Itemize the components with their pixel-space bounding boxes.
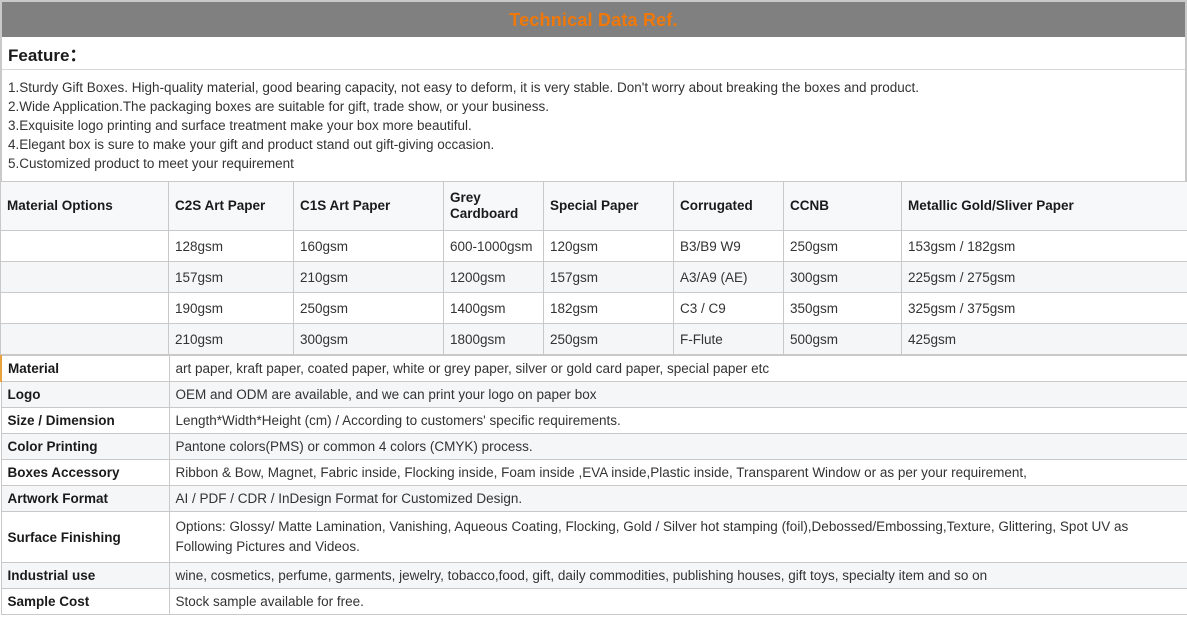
table-cell bbox=[1, 293, 169, 324]
table-row: 157gsm 210gsm 1200gsm 157gsm A3/A9 (AE) … bbox=[1, 262, 1187, 293]
table-cell: 120gsm bbox=[544, 231, 674, 262]
spec-value: Stock sample available for free. bbox=[169, 589, 1187, 615]
spec-label: Size / Dimension bbox=[1, 408, 169, 434]
table-cell: 350gsm bbox=[784, 293, 902, 324]
feature-heading-row: Feature： bbox=[2, 37, 1185, 70]
material-table-header-row: Material Options C2S Art Paper C1S Art P… bbox=[1, 182, 1187, 231]
spec-label: Logo bbox=[1, 382, 169, 408]
spec-label: Industrial use bbox=[1, 563, 169, 589]
feature-section: Feature： 1.Sturdy Gift Boxes. High-quali… bbox=[0, 37, 1187, 181]
table-cell: 1400gsm bbox=[444, 293, 544, 324]
spec-value: art paper, kraft paper, coated paper, wh… bbox=[169, 356, 1187, 382]
spec-value: Options: Glossy/ Matte Lamination, Vanis… bbox=[169, 512, 1187, 563]
spec-row-logo: Logo OEM and ODM are available, and we c… bbox=[1, 382, 1187, 408]
table-row: 128gsm 160gsm 600-1000gsm 120gsm B3/B9 W… bbox=[1, 231, 1187, 262]
page-title-bar: Technical Data Ref. bbox=[0, 0, 1187, 37]
spec-row-artwork-format: Artwork Format AI / PDF / CDR / InDesign… bbox=[1, 486, 1187, 512]
column-header-c1s-art-paper: C1S Art Paper bbox=[294, 182, 444, 231]
spec-row-material: Material art paper, kraft paper, coated … bbox=[1, 356, 1187, 382]
table-cell: 1800gsm bbox=[444, 324, 544, 355]
spec-label: Surface Finishing bbox=[1, 512, 169, 563]
column-header-material-options: Material Options bbox=[1, 182, 169, 231]
feature-line: 2.Wide Application.The packaging boxes a… bbox=[8, 97, 1179, 116]
column-header-ccnb: CCNB bbox=[784, 182, 902, 231]
column-header-c2s-art-paper: C2S Art Paper bbox=[169, 182, 294, 231]
feature-line: 5.Customized product to meet your requir… bbox=[8, 154, 1179, 173]
page-title: Technical Data Ref. bbox=[509, 11, 678, 29]
table-cell: 160gsm bbox=[294, 231, 444, 262]
feature-line: 4.Elegant box is sure to make your gift … bbox=[8, 135, 1179, 154]
table-cell: 190gsm bbox=[169, 293, 294, 324]
spec-value: Pantone colors(PMS) or common 4 colors (… bbox=[169, 434, 1187, 460]
column-header-metallic-gold-sliver-paper: Metallic Gold/Sliver Paper bbox=[902, 182, 1187, 231]
spec-value: AI / PDF / CDR / InDesign Format for Cus… bbox=[169, 486, 1187, 512]
table-cell: 250gsm bbox=[294, 293, 444, 324]
table-cell: A3/A9 (AE) bbox=[674, 262, 784, 293]
spec-row-sample-cost: Sample Cost Stock sample available for f… bbox=[1, 589, 1187, 615]
table-cell: 325gsm / 375gsm bbox=[902, 293, 1187, 324]
spec-value: Ribbon & Bow, Magnet, Fabric inside, Flo… bbox=[169, 460, 1187, 486]
column-header-special-paper: Special Paper bbox=[544, 182, 674, 231]
spec-label: Artwork Format bbox=[1, 486, 169, 512]
feature-heading: Feature： bbox=[8, 41, 86, 66]
table-cell bbox=[1, 262, 169, 293]
spec-row-color-printing: Color Printing Pantone colors(PMS) or co… bbox=[1, 434, 1187, 460]
feature-list: 1.Sturdy Gift Boxes. High-quality materi… bbox=[2, 70, 1185, 181]
table-cell: 250gsm bbox=[784, 231, 902, 262]
table-cell: 157gsm bbox=[544, 262, 674, 293]
spec-label: Color Printing bbox=[1, 434, 169, 460]
table-row: 190gsm 250gsm 1400gsm 182gsm C3 / C9 350… bbox=[1, 293, 1187, 324]
table-cell bbox=[1, 231, 169, 262]
specification-table: Material art paper, kraft paper, coated … bbox=[0, 355, 1187, 615]
table-cell: 225gsm / 275gsm bbox=[902, 262, 1187, 293]
table-cell: 157gsm bbox=[169, 262, 294, 293]
spec-label: Boxes Accessory bbox=[1, 460, 169, 486]
spec-label: Sample Cost bbox=[1, 589, 169, 615]
table-cell: 500gsm bbox=[784, 324, 902, 355]
feature-line: 1.Sturdy Gift Boxes. High-quality materi… bbox=[8, 78, 1179, 97]
table-cell: B3/B9 W9 bbox=[674, 231, 784, 262]
spec-value: wine, cosmetics, perfume, garments, jewe… bbox=[169, 563, 1187, 589]
table-cell: 600-1000gsm bbox=[444, 231, 544, 262]
table-cell: 425gsm bbox=[902, 324, 1187, 355]
table-cell: 210gsm bbox=[169, 324, 294, 355]
table-cell: 250gsm bbox=[544, 324, 674, 355]
column-header-grey-cardboard: Grey Cardboard bbox=[444, 182, 544, 231]
table-cell: 210gsm bbox=[294, 262, 444, 293]
table-cell: 128gsm bbox=[169, 231, 294, 262]
table-cell: 153gsm / 182gsm bbox=[902, 231, 1187, 262]
table-cell: 300gsm bbox=[294, 324, 444, 355]
table-row: 210gsm 300gsm 1800gsm 250gsm F-Flute 500… bbox=[1, 324, 1187, 355]
table-cell: C3 / C9 bbox=[674, 293, 784, 324]
spec-row-boxes-accessory: Boxes Accessory Ribbon & Bow, Magnet, Fa… bbox=[1, 460, 1187, 486]
table-cell: 1200gsm bbox=[444, 262, 544, 293]
table-cell: 300gsm bbox=[784, 262, 902, 293]
technical-data-page: Technical Data Ref. Feature： 1.Sturdy Gi… bbox=[0, 0, 1187, 620]
table-cell: 182gsm bbox=[544, 293, 674, 324]
feature-line: 3.Exquisite logo printing and surface tr… bbox=[8, 116, 1179, 135]
spec-row-surface-finishing: Surface Finishing Options: Glossy/ Matte… bbox=[1, 512, 1187, 563]
spec-value: OEM and ODM are available, and we can pr… bbox=[169, 382, 1187, 408]
spec-label: Material bbox=[1, 356, 169, 382]
table-cell bbox=[1, 324, 169, 355]
material-options-table: Material Options C2S Art Paper C1S Art P… bbox=[0, 181, 1187, 355]
spec-row-industrial-use: Industrial use wine, cosmetics, perfume,… bbox=[1, 563, 1187, 589]
spec-row-size-dimension: Size / Dimension Length*Width*Height (cm… bbox=[1, 408, 1187, 434]
column-header-corrugated: Corrugated bbox=[674, 182, 784, 231]
spec-value: Length*Width*Height (cm) / According to … bbox=[169, 408, 1187, 434]
table-cell: F-Flute bbox=[674, 324, 784, 355]
